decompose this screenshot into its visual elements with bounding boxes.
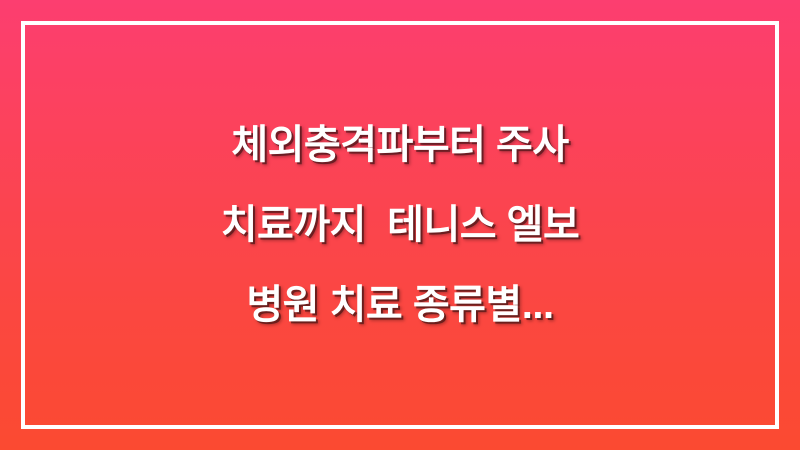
title-line-1: 체외충격파부터 주사	[48, 105, 752, 185]
title-line-3: 병원 치료 종류별...	[48, 265, 752, 345]
title-block: 체외충격파부터 주사 치료까지 테니스 엘보 병원 치료 종류별...	[0, 0, 800, 450]
text-thumbnail-card: 체외충격파부터 주사 치료까지 테니스 엘보 병원 치료 종류별...	[0, 0, 800, 450]
title-line-2: 치료까지 테니스 엘보	[48, 185, 752, 265]
